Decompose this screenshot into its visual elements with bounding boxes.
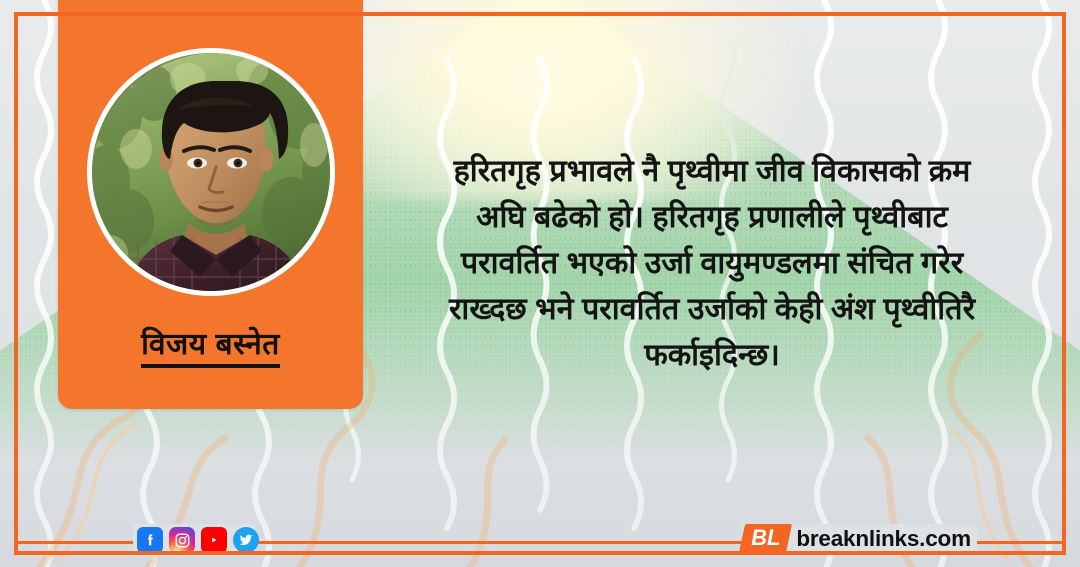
- portrait-name: विजय बस्नेत: [58, 322, 363, 363]
- social-links: [137, 527, 259, 553]
- quote-text: हरितगृह प्रभावले नै पृथ्वीमा जीव विकासको…: [392, 148, 1032, 378]
- portrait-illustration: [92, 53, 330, 291]
- portrait-ring: [87, 48, 335, 296]
- brand-badge: BL: [739, 524, 792, 553]
- portrait-card: विजय बस्नेत: [58, 0, 363, 409]
- quote-line-5: फर्काइदिन्छ।: [392, 332, 1032, 378]
- quote-poster: विजय बस्नेत हरितगृह प्रभावले नै पृथ्वीमा…: [0, 0, 1080, 567]
- quote-line-2: अघि बढेको हो। हरितगृह प्रणालीले पृथ्वीबा…: [392, 194, 1032, 240]
- brand-badge-text: BL: [751, 527, 780, 549]
- brand-label: breaknlinks.com: [796, 526, 971, 552]
- quote-line-1: हरितगृह प्रभावले नै पृथ्वीमा जीव विकासको…: [392, 148, 1032, 194]
- quote-line-3: परावर्तित भएको उर्जा वायुमण्डलमा संचित ग…: [392, 240, 1032, 286]
- twitter-glyph: [238, 532, 254, 548]
- brand-lockup[interactable]: BL breaknlinks.com: [742, 524, 977, 553]
- instagram-glyph: [174, 532, 191, 549]
- quote-line-4: राख्दछ भने परावर्तित उर्जाको केही अंश पृ…: [392, 286, 1032, 332]
- youtube-icon[interactable]: [201, 527, 227, 553]
- facebook-glyph: [142, 532, 158, 548]
- portrait-name-text: विजय बस्नेत: [141, 328, 280, 368]
- instagram-icon[interactable]: [169, 527, 195, 553]
- twitter-icon[interactable]: [233, 527, 259, 553]
- facebook-icon[interactable]: [137, 527, 163, 553]
- portrait-photo: [92, 53, 330, 291]
- youtube-glyph: [206, 532, 222, 548]
